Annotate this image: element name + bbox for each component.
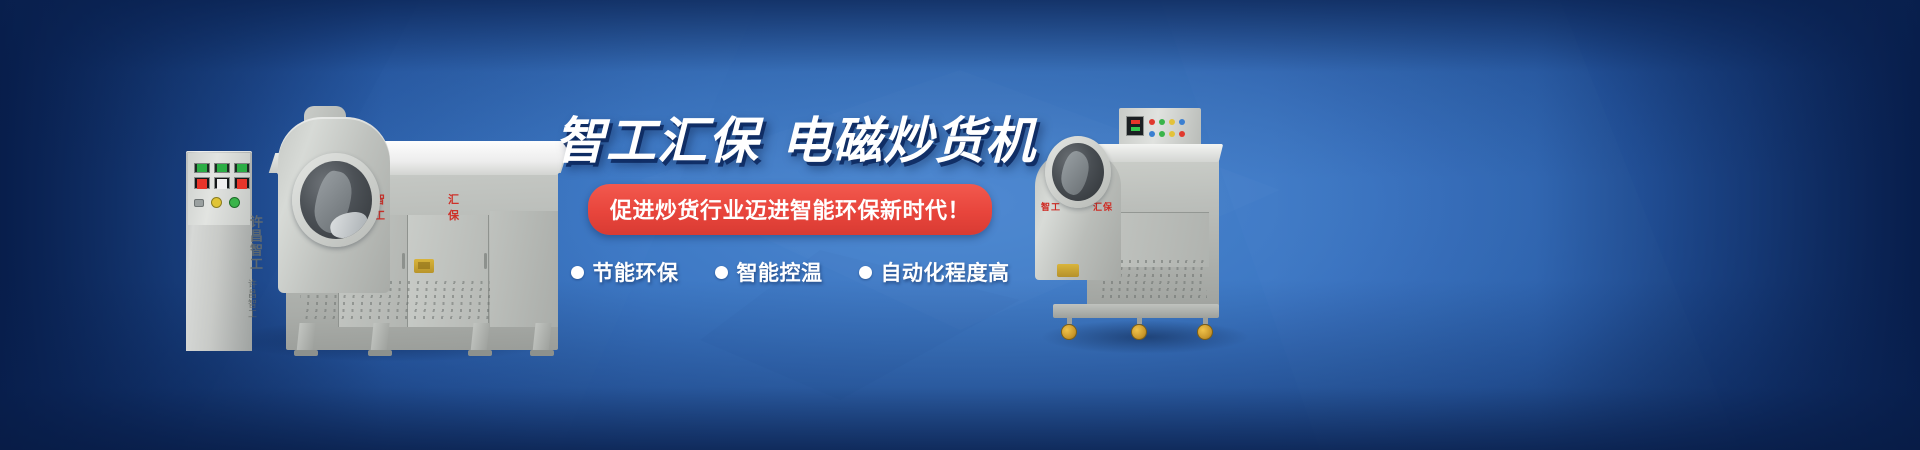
machine-left-control-panel [188, 153, 250, 225]
machine-right-display [1126, 116, 1144, 136]
machine-left-drum-logo-right: 汇保 [448, 191, 460, 223]
machine-right-drum-opening [1052, 143, 1104, 201]
machine-right-button-start [1159, 119, 1165, 125]
machine-right-image: 智工 汇保 [1035, 108, 1240, 348]
machine-left-foot-3 [468, 350, 492, 356]
machine-left-display-3 [234, 177, 250, 189]
feature-item-energy-saving: 节能环保 [571, 257, 679, 287]
machine-left-drum-opening [300, 161, 372, 239]
headline-brand: 智工汇保 [555, 112, 759, 170]
machine-left-leg-4 [532, 323, 551, 353]
machine-right-drum-rim [1045, 136, 1111, 208]
tagline-badge: 促进炒货行业迈进智能环保新时代！ [588, 184, 992, 235]
feature-item-smart-temperature: 智能控温 [715, 257, 823, 287]
promo-banner: 智工 汇保 [0, 0, 1920, 450]
machine-left-display-1 [194, 177, 210, 189]
machine-left-meter-2 [214, 163, 230, 173]
machine-right-button-row-2 [1149, 131, 1185, 137]
machine-left-drum-rim [292, 153, 380, 247]
machine-right-button-aux-4 [1179, 131, 1185, 137]
machine-left-selector-knob [211, 197, 222, 208]
machine-left-cabinet-vertical-text: 许昌智工 [246, 215, 262, 271]
machine-left-meter-1 [194, 163, 210, 173]
machine-left-display-row [194, 177, 250, 189]
machine-left-toggle-switch [194, 199, 204, 207]
feature-label: 自动化程度高 [881, 257, 1010, 287]
machine-right-button-stop [1149, 119, 1155, 125]
machine-left-foot-1 [294, 350, 318, 356]
headline-product: 电磁炒货机 [781, 112, 1036, 170]
machine-right-drum-blade [1059, 149, 1091, 196]
machine-right-button-aux-2 [1159, 131, 1165, 137]
machine-right-caster-1 [1061, 318, 1077, 336]
machine-left-handle-a [402, 253, 405, 269]
machine-left-leg-2 [370, 323, 389, 353]
machine-right-caster-3 [1197, 318, 1213, 336]
machine-left-control-row [194, 197, 240, 208]
machine-right-drum-logo-left: 智工 [1041, 200, 1061, 213]
machine-right-button-mode [1179, 119, 1185, 125]
banner-copy-block: 智工汇保电磁炒货机 促进炒货行业迈进智能环保新时代！ 节能环保 智能控温 自动化… [555, 100, 1025, 300]
machine-left-meter-row [194, 163, 250, 173]
machine-left-leg-3 [470, 323, 489, 353]
machine-right-nameplate [1057, 264, 1079, 277]
machine-right-button-row-1 [1149, 119, 1185, 125]
machine-left-display-2 [214, 177, 230, 189]
machine-left-control-cabinet: 许昌智工 [186, 151, 252, 351]
bullet-dot-icon [571, 266, 584, 279]
bullet-dot-icon [859, 266, 872, 279]
machine-right-control-panel [1119, 108, 1201, 148]
machine-left-handle-b [484, 253, 487, 269]
feature-label: 节能环保 [593, 257, 679, 287]
feature-label: 智能控温 [737, 257, 823, 287]
tagline-row: 促进炒货行业迈进智能环保新时代！ [555, 184, 1025, 235]
machine-left-power-indicator [229, 197, 240, 208]
machine-left-control-side-text: 许昌智工 [242, 279, 256, 319]
feature-item-automation: 自动化程度高 [859, 257, 1010, 287]
machine-left-foot-2 [368, 350, 392, 356]
machine-left-nameplate [414, 259, 434, 273]
machine-left-image: 智工 汇保 [186, 103, 558, 353]
machine-left-door-c [490, 211, 558, 327]
machine-left-leg-1 [296, 323, 315, 353]
machine-right-button-aux-3 [1169, 131, 1175, 137]
feature-list: 节能环保 智能控温 自动化程度高 [555, 257, 1025, 287]
banner-headline: 智工汇保电磁炒货机 [555, 100, 1025, 166]
machine-left-foot-4 [530, 350, 554, 356]
machine-right-button-aux-1 [1149, 131, 1155, 137]
machine-right-base-frame [1053, 304, 1219, 318]
machine-right-caster-2 [1131, 318, 1147, 336]
machine-left-meter-3 [234, 163, 250, 173]
machine-right-button-heat [1169, 119, 1175, 125]
bullet-dot-icon [715, 266, 728, 279]
